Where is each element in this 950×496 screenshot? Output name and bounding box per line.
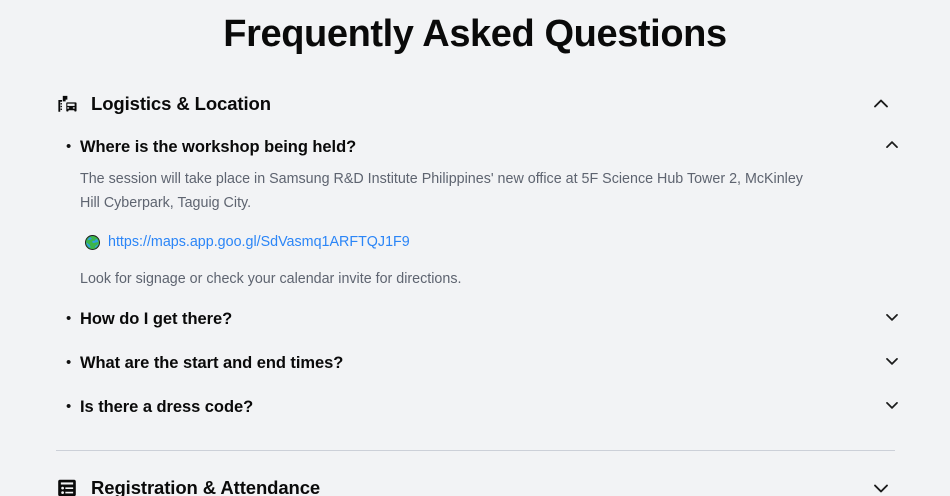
bullet-marker: • [65,136,80,158]
ballot-list-icon [56,477,78,496]
question-header[interactable]: • How do I get there? [65,296,895,340]
answer-note: Look for signage or check your calendar … [80,268,835,290]
map-link-row: https://maps.app.goo.gl/SdVasmq1ARFTQJ1F… [85,232,835,252]
building-car-icon [56,93,78,115]
spacer [56,451,895,468]
chevron-up-icon[interactable] [869,92,893,116]
globe-icon [85,235,100,250]
question-list-logistics-location: • Where is the workshop being held? The … [56,130,895,428]
answer-paragraph: The session will take place in Samsung R… [80,167,825,215]
answer-body: The session will take place in Samsung R… [65,164,895,296]
bullet-marker: • [65,308,80,330]
bullet-marker: • [65,396,80,418]
chevron-down-icon[interactable] [882,351,902,371]
question-header[interactable]: • Is there a dress code? [65,384,895,428]
question-item-where-is-the-workshop-being-held: • Where is the workshop being held? The … [65,130,895,296]
faq-section-registration-attendance: Registration & Attendance [56,468,895,496]
question-header[interactable]: • What are the start and end times? [65,340,895,384]
section-title-registration-attendance: Registration & Attendance [91,476,320,496]
map-link[interactable]: https://maps.app.goo.gl/SdVasmq1ARFTQJ1F… [108,232,410,252]
section-header-registration-attendance[interactable]: Registration & Attendance [56,468,895,496]
bullet-marker: • [65,352,80,374]
chevron-down-icon[interactable] [882,395,902,415]
question-text: Is there a dress code? [80,396,253,418]
question-text: What are the start and end times? [80,352,343,374]
page-title: Frequently Asked Questions [0,0,950,57]
section-divider [56,450,895,451]
question-header[interactable]: • Where is the workshop being held? [65,130,895,164]
question-text: Where is the workshop being held? [80,136,356,158]
faq-accordion: Logistics & Location • Where is the work… [0,84,950,496]
chevron-down-icon[interactable] [869,476,893,496]
question-item-what-are-the-start-and-end-times: • What are the start and end times? [65,340,895,384]
question-item-is-there-a-dress-code: • Is there a dress code? [65,384,895,428]
question-item-how-do-i-get-there: • How do I get there? [65,296,895,340]
faq-section-logistics-location: Logistics & Location • Where is the work… [56,84,895,451]
section-title-logistics-location: Logistics & Location [91,92,271,116]
chevron-down-icon[interactable] [882,307,902,327]
chevron-up-icon[interactable] [882,135,902,155]
question-text: How do I get there? [80,308,232,330]
section-header-logistics-location[interactable]: Logistics & Location [56,84,895,123]
